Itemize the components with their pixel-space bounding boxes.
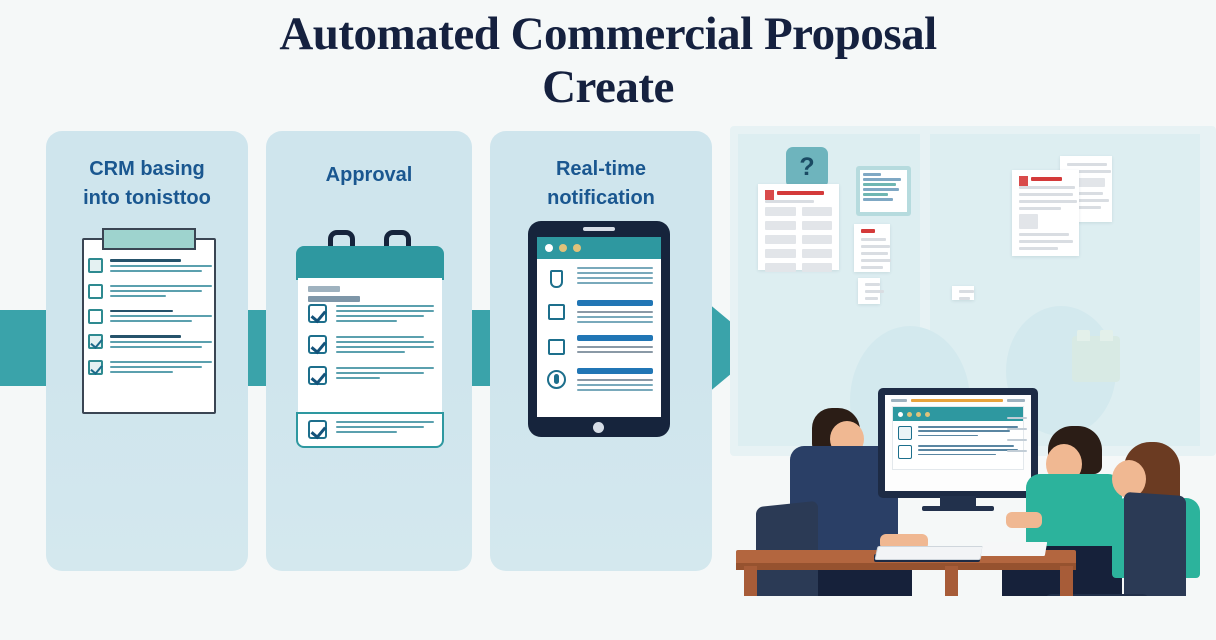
- notepad-title-bars: [308, 286, 360, 302]
- clipboard-row: [88, 258, 212, 275]
- clipboard-row: [88, 334, 212, 351]
- notepad-row: [308, 420, 434, 439]
- text-lines: [577, 335, 653, 359]
- window-dot-white-icon: [545, 244, 553, 252]
- text-lines: [110, 360, 212, 376]
- papers-on-desk: [981, 542, 1047, 556]
- title-line-2: Create: [208, 61, 1008, 114]
- checkbox-checked-icon: [308, 335, 327, 354]
- chair-backrest: [1124, 492, 1186, 596]
- page-title: Automated Commercial Proposal Create: [208, 8, 1008, 114]
- tablet-content: [537, 259, 661, 394]
- server-icon: [1072, 336, 1120, 382]
- app-row: [898, 426, 1018, 440]
- tablet-speaker: [583, 227, 615, 231]
- tablet-row: [545, 335, 653, 359]
- spiral-notepad-icon: [296, 246, 444, 446]
- tablet-home-button[interactable]: [593, 422, 604, 433]
- text-lines: [336, 335, 434, 356]
- text-lines: [577, 267, 653, 291]
- infographic-canvas: Automated Commercial Proposal Create CRM…: [0, 0, 1216, 640]
- checkbox-icon: [88, 309, 103, 324]
- desk-leg: [744, 566, 757, 596]
- app-rows: [893, 421, 1023, 469]
- question-mark-icon: ?: [786, 147, 828, 188]
- window-dot-tan-icon: [559, 244, 567, 252]
- text-lines: [110, 258, 212, 275]
- notepad-header: [296, 246, 444, 280]
- text-lines: [110, 334, 212, 351]
- red-logo-icon: [765, 190, 774, 200]
- notification-title-line-1: Real-time: [556, 158, 646, 180]
- text-lines: [336, 420, 434, 439]
- clipboard-checklist-icon: [78, 228, 220, 414]
- step-card-notification-title: Real-time notification: [498, 155, 704, 213]
- signature-badge-icon: [545, 368, 569, 392]
- clipboard-row: [88, 309, 212, 326]
- crm-title-line-2: into tonisttoo: [83, 187, 211, 209]
- monitor-bezel: [878, 388, 1038, 498]
- monitor-base: [922, 506, 994, 511]
- tablet-row: [545, 300, 653, 326]
- flask-icon: [545, 267, 569, 291]
- red-logo-icon: [1019, 176, 1028, 186]
- text-lines: [110, 309, 212, 326]
- checkbox-checked-icon: [308, 304, 327, 323]
- clipboard-row: [88, 360, 212, 376]
- notepad-row: [308, 366, 434, 385]
- clipboard-row: [88, 284, 212, 300]
- clipboard-rows: [88, 258, 212, 385]
- tablet-device-icon: [528, 221, 670, 437]
- memo-poster: [854, 224, 890, 272]
- sticky-note: [952, 286, 974, 300]
- tablet-titlebar: [537, 237, 661, 259]
- document-poster: [758, 184, 839, 270]
- desk-leg: [1060, 566, 1073, 596]
- notepad-rows: [308, 304, 434, 395]
- window-dot-tan-icon: [907, 412, 912, 417]
- crm-title-line-1: CRM basing: [89, 158, 205, 180]
- tablet-row: [545, 267, 653, 291]
- checkbox-checked-icon: [308, 420, 327, 439]
- text-lines: [336, 304, 434, 325]
- step-card-approval-title: Approval: [274, 161, 464, 190]
- note-poster: [858, 278, 880, 304]
- desktop-monitor[interactable]: [878, 388, 1038, 510]
- checkbox-icon[interactable]: [898, 445, 912, 459]
- monitor-screen: [885, 395, 1031, 491]
- app-row: [898, 445, 1018, 459]
- chair-backrest: [756, 501, 818, 596]
- text-lines: [918, 445, 1018, 459]
- report-poster-front: [1012, 170, 1079, 256]
- document-app-window: [892, 406, 1024, 470]
- checkbox-checked-icon: [308, 366, 327, 385]
- checkbox-icon: [88, 258, 103, 273]
- app-titlebar: [893, 407, 1023, 421]
- notepad-row: [308, 335, 434, 356]
- window-dot-tan-icon: [916, 412, 921, 417]
- tablet-screen: [537, 237, 661, 417]
- window-dot-tan-icon: [573, 244, 581, 252]
- signature-field-icon[interactable]: [898, 426, 912, 440]
- text-lines: [577, 368, 653, 394]
- checkbox-icon: [88, 284, 103, 299]
- checkbox-checked-icon: [88, 334, 103, 349]
- window-dot-white-icon: [898, 412, 903, 417]
- window-dot-tan-icon: [925, 412, 930, 417]
- clipboard-clip: [102, 228, 196, 250]
- checkbox-checked-icon: [88, 360, 103, 375]
- notepad-row: [308, 304, 434, 325]
- beaker-icon: [545, 300, 569, 324]
- app-sidebar: [1007, 417, 1027, 461]
- desk-leg: [945, 566, 958, 596]
- notification-title-line-2: notification: [547, 187, 655, 209]
- text-lines: [577, 300, 653, 326]
- square-icon: [545, 335, 569, 359]
- step-card-crm-title: CRM basing into tonisttoo: [54, 155, 240, 213]
- desk-edge: [736, 563, 1076, 570]
- text-lines: [336, 366, 434, 385]
- hand: [1006, 512, 1042, 528]
- text-lines: [110, 284, 212, 300]
- title-line-1: Automated Commercial Proposal: [279, 8, 936, 60]
- tablet-row: [545, 368, 653, 394]
- text-lines: [918, 426, 1018, 440]
- screenshot-frame-poster: [856, 166, 911, 216]
- app-toolbar: [885, 395, 1031, 406]
- office-collaboration-illustration: ?: [730, 126, 1216, 596]
- keyboard[interactable]: [875, 546, 984, 560]
